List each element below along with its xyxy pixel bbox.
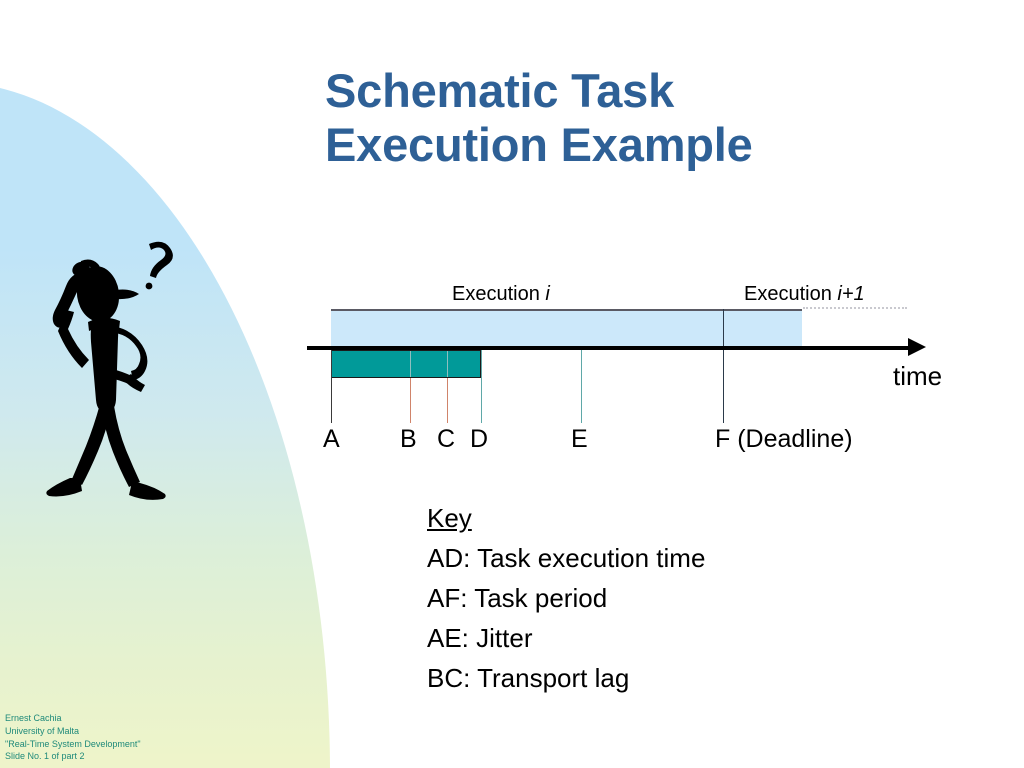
marker-label-c: C — [437, 425, 455, 454]
time-axis-arrowhead-icon — [908, 338, 926, 356]
execution-i-plus-1-label: Execution i+1 — [744, 283, 865, 306]
key-entry-ad: AD: Task execution time — [427, 538, 705, 578]
marker-label-e: E — [571, 425, 588, 454]
key-entry-bc: BC: Transport lag — [427, 658, 705, 698]
time-axis-line — [307, 346, 917, 350]
execution-i-prefix: Execution — [452, 283, 540, 305]
marker-line-d — [481, 350, 482, 423]
marker-line-f — [723, 350, 724, 423]
footer-slide-number: Slide No. 1 of part 2 — [5, 750, 141, 763]
marker-line-b — [410, 378, 411, 423]
slide-canvas: Schematic Task Execution Example — [0, 0, 1024, 768]
marker-label-d: D — [470, 425, 488, 454]
execution-i-index: i — [545, 283, 549, 305]
execution-i1-prefix: Execution — [744, 283, 832, 305]
time-axis-label: time — [893, 361, 942, 392]
marker-line-a — [331, 350, 332, 423]
execution-i-label: Execution i — [452, 283, 550, 306]
execution-bar-divider-c — [447, 351, 448, 377]
page-title: Schematic Task Execution Example — [325, 64, 925, 172]
key-heading-line: Key — [427, 498, 705, 538]
key-entry-ae: AE: Jitter — [427, 618, 705, 658]
marker-label-b: B — [400, 425, 417, 454]
key-entry-af: AF: Task period — [427, 578, 705, 618]
marker-line-c — [447, 378, 448, 423]
title-line-1: Schematic Task — [325, 64, 925, 118]
marker-label-a: A — [323, 425, 340, 454]
marker-label-f: F (Deadline) — [715, 425, 853, 454]
footer-institution: University of Malta — [5, 725, 141, 738]
title-line-2: Execution Example — [325, 118, 925, 172]
marker-line-e — [581, 350, 582, 423]
footer-author: Ernest Cachia — [5, 712, 141, 725]
key-legend-block: Key AD: Task execution time AF: Task per… — [427, 498, 705, 698]
execution-i1-index: i+1 — [837, 283, 864, 305]
key-heading: Key — [427, 498, 472, 538]
deadline-divider-line — [723, 309, 724, 347]
footer-course: "Real-Time System Development" — [5, 738, 141, 751]
execution-bar-divider-b — [410, 351, 411, 377]
task-period-bar — [331, 309, 802, 349]
period-dotted-extension — [803, 307, 907, 309]
task-execution-bar — [331, 350, 481, 378]
slide-footer: Ernest Cachia University of Malta "Real-… — [5, 712, 141, 763]
puzzled-stick-figure-icon — [36, 228, 196, 524]
